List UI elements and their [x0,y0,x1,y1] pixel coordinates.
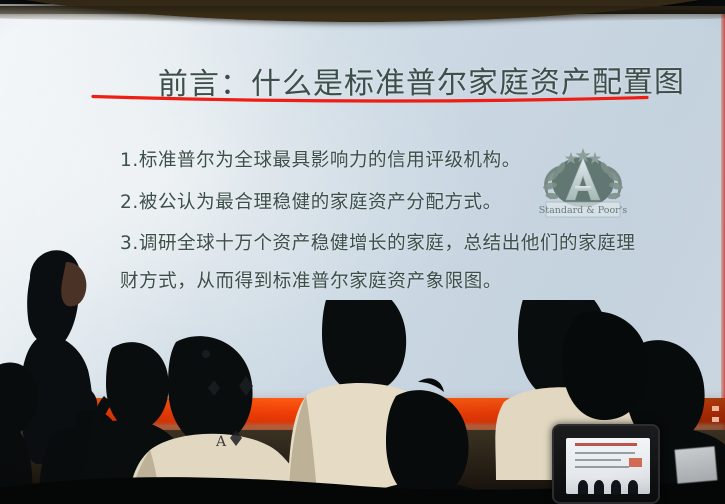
tablet-slide-line [575,452,635,454]
list-item: 3.调研全球十万个资产稳健增长的家庭，总结出他们的家庭理 财方式，从而得到标准普… [120,235,680,291]
audience-member [562,312,648,420]
tablet-slide-line [575,466,629,468]
paper-sheet [675,446,718,483]
bullet-text-continued: 财方式，从而得到标准普尔家庭资产象限图。 [120,273,680,292]
ceiling-arc-highlight [0,6,725,22]
tablet-head-silhouette [578,480,588,494]
bullet-text: 2.被公认为最合理稳健的家庭资产分配方式。 [120,192,502,213]
tablet-slide-title [575,443,637,446]
logo-caption: Standard & Poor's [539,205,628,216]
tablet-slide-line [575,459,621,461]
tablet-screen [566,438,650,494]
title-underline [93,96,647,105]
tablet-head-silhouette [611,480,621,494]
tablet-slide-logo [629,458,642,467]
bullet-text: 1.标准普尔为全球最具影响力的信用评级机构。 [120,150,521,171]
tablet-head-silhouette [628,480,638,494]
photo-scene: 前言：什么是标准普尔家庭资产配置图 1.标准普尔为全球最具影响力的信用评级机构。… [0,0,725,504]
svg-text:A: A [215,434,227,450]
audience-tablet[interactable] [552,424,660,504]
tablet-head-silhouette [594,480,604,494]
standard-and-poors-logo: Standard & Poor's [528,138,638,222]
bullet-text: 3.调研全球十万个资产稳健增长的家庭，总结出他们的家庭理 [120,233,635,254]
